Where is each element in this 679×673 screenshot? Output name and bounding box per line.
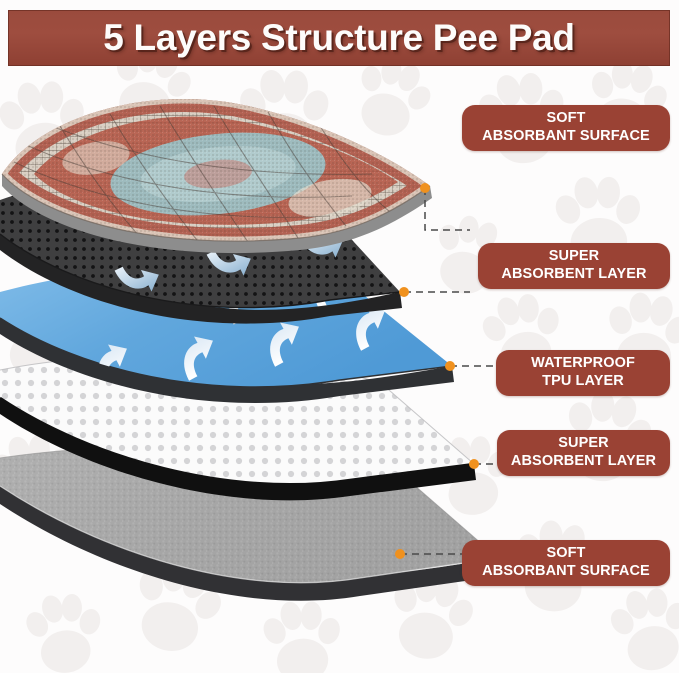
- callout-1-line-1: SOFT: [546, 110, 585, 128]
- callout-4-line-1: SUPER: [558, 435, 608, 453]
- callout-soft-absorbant-surface-top[interactable]: SOFT ABSORBANT SURFACE: [462, 105, 670, 151]
- callout-waterproof-tpu-layer[interactable]: WATERPROOF TPU LAYER: [496, 350, 670, 396]
- leader-line-1: [425, 188, 470, 230]
- callout-4-line-2: ABSORBENT LAYER: [511, 453, 656, 471]
- callout-2-line-1: SUPER: [549, 248, 599, 266]
- header-banner: 5 Layers Structure Pee Pad: [8, 10, 670, 66]
- infographic-canvas: 5 Layers Structure Pee Pad: [0, 0, 679, 673]
- callout-1-line-2: ABSORBANT SURFACE: [482, 128, 650, 146]
- callout-2-line-2: ABSORBENT LAYER: [501, 266, 646, 284]
- callout-5-line-2: ABSORBANT SURFACE: [482, 563, 650, 581]
- callout-5-line-1: SOFT: [546, 545, 585, 563]
- anchor-dot-4: [469, 459, 479, 469]
- callout-3-line-1: WATERPROOF: [531, 355, 635, 373]
- callout-super-absorbent-layer-lower[interactable]: SUPER ABSORBENT LAYER: [497, 430, 670, 476]
- anchor-dot-2: [399, 287, 409, 297]
- anchor-dot-1: [420, 183, 430, 193]
- callout-soft-absorbant-surface-bottom[interactable]: SOFT ABSORBANT SURFACE: [462, 540, 670, 586]
- anchor-dot-5: [395, 549, 405, 559]
- page-title: 5 Layers Structure Pee Pad: [103, 17, 574, 59]
- callout-super-absorbent-layer-upper[interactable]: SUPER ABSORBENT LAYER: [478, 243, 670, 289]
- callout-3-line-2: TPU LAYER: [542, 373, 624, 391]
- anchor-dot-3: [445, 361, 455, 371]
